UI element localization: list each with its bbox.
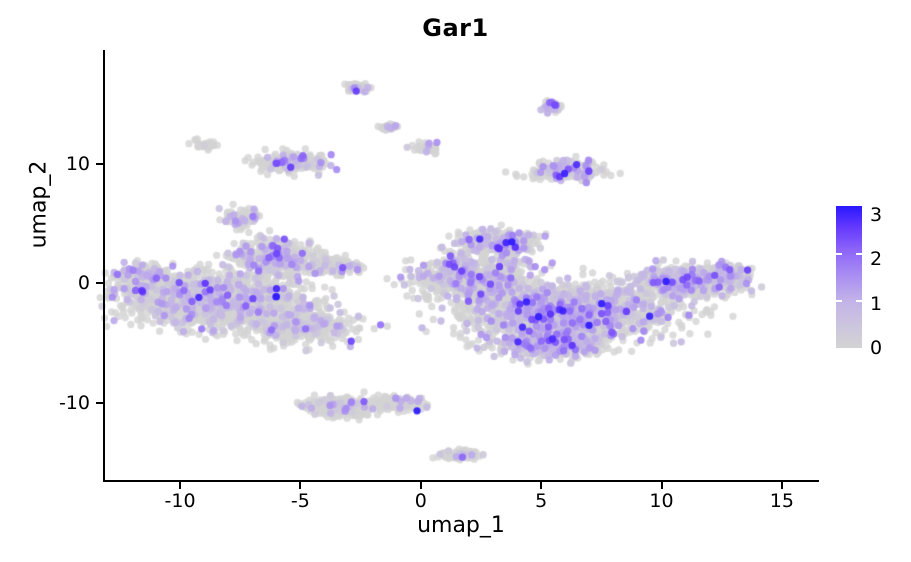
y-tick-mark	[96, 282, 104, 284]
colorbar-tick-2b	[856, 253, 862, 255]
x-tick-mark	[299, 482, 301, 489]
umap-figure: Gar1 -10-5051015 -10010 umap_1 umap_2 01…	[0, 0, 911, 562]
x-tick-mark	[179, 482, 181, 489]
x-tick-label: -5	[291, 490, 310, 512]
x-tick-mark	[540, 482, 542, 489]
y-axis-spine	[103, 50, 105, 482]
colorbar-tick-1	[836, 300, 842, 302]
y-tick-label: -10	[0, 392, 90, 414]
x-tick-mark	[781, 482, 783, 489]
colorbar-tick-label: 3	[870, 204, 882, 226]
x-axis-label: umap_1	[103, 513, 819, 538]
colorbar-tick-label: 2	[870, 248, 882, 270]
x-tick-label: -10	[165, 490, 196, 512]
scatter-plot-canvas	[0, 0, 911, 562]
x-tick-mark	[420, 482, 422, 489]
x-tick-label: 5	[535, 490, 547, 512]
colorbar-gradient	[836, 206, 862, 348]
x-tick-mark	[661, 482, 663, 489]
y-axis-label: umap_2	[27, 130, 52, 280]
x-tick-label: 15	[770, 490, 794, 512]
y-tick-mark	[96, 163, 104, 165]
colorbar-tick-label: 1	[870, 293, 882, 315]
x-tick-label: 10	[649, 490, 673, 512]
colorbar-tick-label: 0	[870, 337, 882, 359]
colorbar-tick-2	[836, 253, 842, 255]
x-axis-spine	[103, 480, 819, 482]
colorbar-tick-1b	[856, 300, 862, 302]
x-tick-label: 0	[415, 490, 427, 512]
y-tick-mark	[96, 402, 104, 404]
